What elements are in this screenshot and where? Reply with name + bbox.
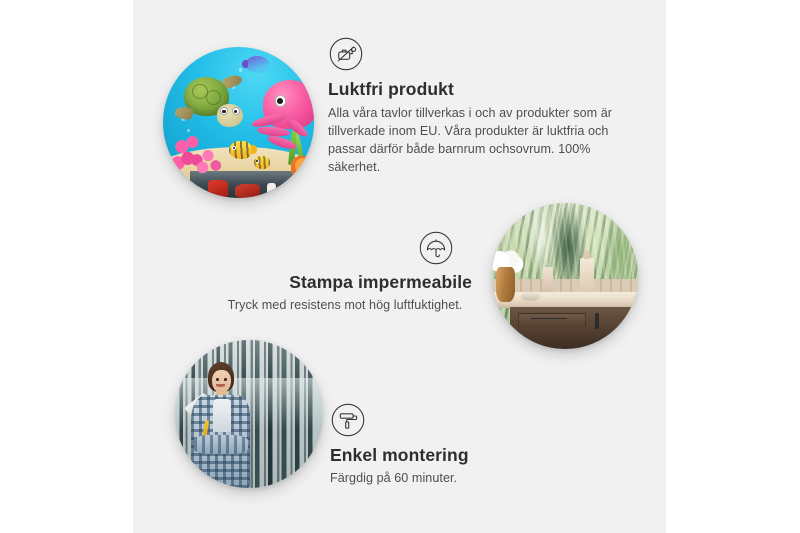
inner-shirt (213, 399, 231, 432)
product-feature-panel: Luktfri produkt Alla våra tavlor tillver… (0, 0, 800, 533)
wooden-vanity (510, 307, 638, 349)
octopus-eye (275, 95, 286, 106)
woman-eye (216, 378, 219, 380)
feature-odourless: Luktfri produkt Alla våra tavlor tillver… (328, 36, 628, 177)
feature-body: Alla våra tavlor tillverkas i och av pro… (328, 105, 628, 177)
feature-easymount: Enkel montering Färgdig på 60 minuter. (330, 402, 610, 488)
turtle-eye (232, 107, 240, 115)
product-image-aquarium (163, 47, 314, 198)
yellow-fish (254, 156, 271, 170)
product-image-painter (175, 340, 323, 488)
crossed-arms (194, 435, 247, 454)
bubble-icon (239, 68, 243, 72)
soap-bottle (580, 258, 595, 293)
blue-fish (246, 56, 269, 73)
feature-title: Stampa impermeabile (200, 272, 472, 293)
soap-bottle (543, 267, 553, 292)
paint-roller-icon (330, 402, 366, 438)
sea-rock-white (267, 183, 276, 195)
aquarium-artwork (163, 47, 314, 198)
sea-rock-red (208, 180, 228, 197)
product-image-bathroom (492, 203, 638, 349)
feature-body: Färgdig på 60 minuter. (330, 470, 610, 488)
feature-body: Tryck med resistens mot hög luftfuktighe… (200, 297, 474, 315)
woman-eye (224, 378, 227, 380)
feature-waterproof: Stampa impermeabile Tryck med resistens … (200, 230, 474, 315)
drawer-handle (531, 318, 567, 320)
feature-title: Luktfri produkt (328, 79, 628, 100)
cabinet-handle (595, 313, 600, 328)
starfish (291, 156, 314, 177)
umbrella-icon (418, 230, 454, 266)
painter-artwork (175, 340, 323, 488)
yellow-fish (229, 141, 252, 159)
no-perfume-icon (328, 36, 364, 72)
pink-coral (196, 147, 226, 180)
gold-vase (496, 267, 515, 302)
feature-title: Enkel montering (330, 445, 610, 466)
soap-dish (521, 292, 540, 301)
bathroom-artwork (492, 203, 638, 349)
sea-rock-red (235, 184, 259, 198)
